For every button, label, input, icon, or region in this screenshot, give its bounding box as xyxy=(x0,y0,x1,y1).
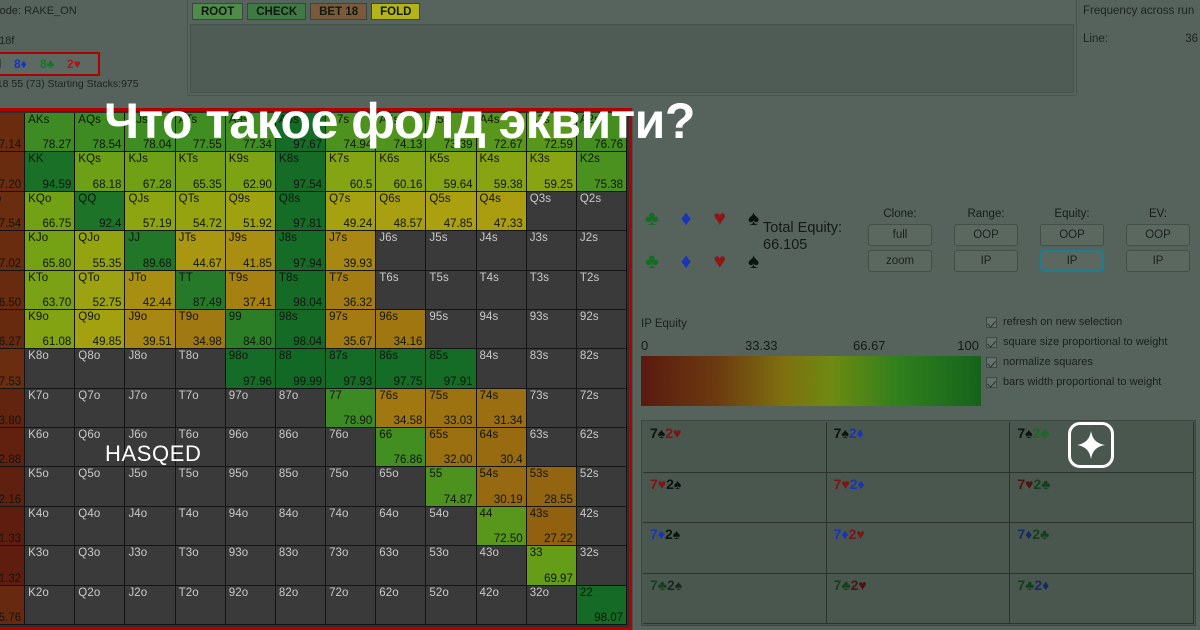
range-cell-value: 32.00 xyxy=(444,454,473,466)
range-cell-value: 87.49 xyxy=(193,297,222,309)
range-cell[interactable]: K7s60.5 xyxy=(326,152,376,191)
range-cell[interactable]: 94s xyxy=(477,310,527,349)
range-cell[interactable]: 73o xyxy=(326,546,376,585)
range-cell[interactable]: A3o1.32 xyxy=(0,546,25,585)
range-cell-hand: T9s xyxy=(229,272,248,284)
range-cell[interactable]: 62s xyxy=(577,428,627,467)
range-cell-hand: T3s xyxy=(530,272,549,284)
range-cell-hand: 52s xyxy=(580,468,599,480)
range-cell-hand: K8o xyxy=(28,350,49,362)
range-cell[interactable]: TT87.49 xyxy=(176,271,226,310)
heart-icon[interactable]: ♥ xyxy=(714,251,726,272)
range-cell[interactable]: Q4s47.33 xyxy=(477,192,527,231)
range-cell-value: 34.58 xyxy=(394,415,423,427)
range-cell[interactable]: Q9s51.92 xyxy=(226,192,276,231)
range-cell[interactable]: K5s59.64 xyxy=(426,152,476,191)
range-cell-hand: QQ xyxy=(78,193,96,205)
range-cell-hand: J3s xyxy=(530,232,548,244)
range-cell[interactable]: KK94.59 xyxy=(25,152,75,191)
range-cell[interactable]: T8s98.04 xyxy=(276,271,326,310)
range-cell[interactable]: 54o xyxy=(426,507,476,546)
range-cell[interactable]: 85o xyxy=(276,467,326,506)
range-cell[interactable]: AKo7.20 xyxy=(0,152,25,191)
range-cell-value: 44.67 xyxy=(193,258,222,270)
control-button-zoom[interactable]: zoom xyxy=(868,250,932,272)
range-cell-value: 97.75 xyxy=(394,376,423,388)
range-cell[interactable]: K3o xyxy=(25,546,75,585)
range-cell[interactable]: Q3o xyxy=(75,546,125,585)
range-cell[interactable]: Q8s97.81 xyxy=(276,192,326,231)
range-cell[interactable]: AQo7.54 xyxy=(0,192,25,231)
range-cell-hand: QTo xyxy=(78,272,99,284)
range-cell[interactable]: 64s30.4 xyxy=(477,428,527,467)
range-matrix[interactable]: AA7.14AKs78.27AQs78.54AJs78.04ATs77.55A9… xyxy=(0,113,627,625)
suit-filter-row-2[interactable]: ♣ ♦ ♥ ♠ xyxy=(645,251,759,272)
range-cell[interactable]: K8s97.54 xyxy=(276,152,326,191)
equity-gradient-bar xyxy=(641,356,981,406)
combo-grid[interactable]: 7♠2♥7♠2♦7♠2♣7♥2♠7♥2♦7♥2♣7♦2♠7♦2♥7♦2♣7♣2♠… xyxy=(643,422,1194,624)
range-cell[interactable]: 42s xyxy=(577,507,627,546)
range-cell[interactable]: K2o xyxy=(25,586,75,625)
range-cell-value: 59.25 xyxy=(544,179,573,191)
checkbox-icon[interactable] xyxy=(986,377,997,388)
range-cell[interactable]: 76s34.58 xyxy=(376,389,426,428)
range-cell-hand: TT xyxy=(179,272,193,284)
node-tree-panel: ROOT CHECK BET 18 FOLD xyxy=(187,0,1076,96)
range-cell[interactable]: 86o xyxy=(276,428,326,467)
range-cell[interactable]: QJo55.35 xyxy=(75,231,125,270)
range-cell-value: 65.80 xyxy=(43,258,72,270)
range-cell[interactable]: J5s xyxy=(426,231,476,270)
range-cell[interactable]: 85s97.91 xyxy=(426,349,476,388)
range-cell[interactable]: Q4o xyxy=(75,507,125,546)
range-cell[interactable]: J5o xyxy=(125,467,175,506)
range-cell[interactable]: 62o xyxy=(376,586,426,625)
range-cell[interactable]: 6676.86 xyxy=(376,428,426,467)
range-cell[interactable]: T5o xyxy=(176,467,226,506)
range-cell[interactable]: 32o xyxy=(527,586,577,625)
range-cell[interactable]: 95s xyxy=(426,310,476,349)
range-cell[interactable]: KTs65.35 xyxy=(176,152,226,191)
node-button-fold[interactable]: FOLD xyxy=(371,3,420,20)
range-cell[interactable]: Q7s49.24 xyxy=(326,192,376,231)
range-cell-hand: K7s xyxy=(329,153,349,165)
range-cell[interactable]: AJo7.02 xyxy=(0,231,25,270)
combo-cell[interactable]: 7♣2♦ xyxy=(1010,574,1194,625)
combo-label: 7♣2♦ xyxy=(1017,577,1049,593)
combo-cell[interactable]: 7♠2♦ xyxy=(827,422,1011,473)
range-cell[interactable]: 54s30.19 xyxy=(477,467,527,506)
range-cell-value: 6.27 xyxy=(0,336,21,348)
range-cell-hand: 44 xyxy=(480,508,493,520)
range-cell[interactable]: 92o xyxy=(226,586,276,625)
range-cell[interactable]: 83o xyxy=(276,546,326,585)
control-button-oop[interactable]: OOP xyxy=(954,224,1018,246)
range-cell[interactable]: A7o3.80 xyxy=(0,389,25,428)
range-cell[interactable]: QTs54.72 xyxy=(176,192,226,231)
range-cell-value: 47.85 xyxy=(444,218,473,230)
range-cell[interactable]: K6s60.16 xyxy=(376,152,426,191)
control-button-full[interactable]: full xyxy=(868,224,932,246)
range-cell[interactable]: J2o xyxy=(125,586,175,625)
range-cell[interactable]: 93s xyxy=(527,310,577,349)
range-cell[interactable]: 93o xyxy=(226,546,276,585)
range-cell-hand: 65o xyxy=(379,468,399,480)
range-cell-hand: Q4s xyxy=(480,193,501,205)
range-cell[interactable]: K3s59.25 xyxy=(527,152,577,191)
range-cell-hand: 93s xyxy=(530,311,549,323)
range-cell[interactable]: T8o xyxy=(176,349,226,388)
range-cell-hand: Q8o xyxy=(78,350,100,362)
combo-cell[interactable]: 7♥2♦ xyxy=(827,473,1011,524)
combo-cell[interactable]: 7♦2♣ xyxy=(1010,523,1194,574)
range-cell[interactable]: J7s39.93 xyxy=(326,231,376,270)
range-cell[interactable]: 43o xyxy=(477,546,527,585)
range-cell-hand: 98s xyxy=(279,311,298,323)
range-cell[interactable]: KJs67.28 xyxy=(125,152,175,191)
range-cell-hand: QJo xyxy=(78,232,99,244)
option-row[interactable]: square size proportional to weight xyxy=(986,336,1167,348)
combo-cell[interactable]: 7♥2♠ xyxy=(643,473,827,524)
range-cell[interactable]: 75s33.03 xyxy=(426,389,476,428)
control-button-oop[interactable]: OOP xyxy=(1040,224,1104,246)
range-cell[interactable]: 82s xyxy=(577,349,627,388)
range-cell-hand: 95s xyxy=(429,311,448,323)
range-cell[interactable]: 73s xyxy=(527,389,577,428)
range-cell[interactable]: J3s xyxy=(527,231,577,270)
range-cell[interactable]: 95o xyxy=(226,467,276,506)
range-cell[interactable]: AA7.14 xyxy=(0,113,25,152)
range-cell-hand: 22 xyxy=(580,587,593,599)
range-cell[interactable]: T9o34.98 xyxy=(176,310,226,349)
range-cell-hand: 82s xyxy=(580,350,599,362)
range-cell-hand: J7s xyxy=(329,232,347,244)
range-cell[interactable]: T3s xyxy=(527,271,577,310)
range-cell[interactable]: QQ92.4 xyxy=(75,192,125,231)
range-cell-hand: 52o xyxy=(429,587,449,599)
option-label: normalize squares xyxy=(1003,356,1093,368)
range-cell[interactable]: 32s xyxy=(577,546,627,585)
scale-tick-100: 100 xyxy=(957,338,979,353)
range-cell[interactable]: 86s97.75 xyxy=(376,349,426,388)
checkbox-icon[interactable] xyxy=(986,337,997,348)
heart-icon[interactable]: ♥ xyxy=(714,208,726,229)
total-equity-block: Total Equity: 66.105 xyxy=(763,220,842,254)
spade-icon[interactable]: ♠ xyxy=(748,208,759,229)
range-cell-value: 97.91 xyxy=(444,376,473,388)
control-column-range: Range:OOPIP xyxy=(954,208,1018,276)
range-cell[interactable]: K5o xyxy=(25,467,75,506)
combo-cell[interactable]: 7♠2♣ xyxy=(1010,422,1194,473)
range-cell[interactable]: T4s xyxy=(477,271,527,310)
range-cell[interactable]: 87o xyxy=(276,389,326,428)
range-cell[interactable]: K7o xyxy=(25,389,75,428)
display-options: refresh on new selectionsquare size prop… xyxy=(986,316,1167,396)
suit-filter-rows[interactable]: ♣ ♦ ♥ ♠ ♣ ♦ ♥ ♠ xyxy=(645,208,759,294)
range-cell-value: 69.97 xyxy=(544,573,573,585)
range-cell-hand: 53o xyxy=(429,547,449,559)
range-cell[interactable]: 72s xyxy=(577,389,627,428)
board-cards-box[interactable]: d 8♦ 8♣ 2♥ xyxy=(0,52,100,76)
range-cell-value: 27.22 xyxy=(544,533,573,545)
range-cell[interactable]: 82o xyxy=(276,586,326,625)
range-cell-hand: 74s xyxy=(480,390,499,402)
range-cell[interactable]: J7o xyxy=(125,389,175,428)
range-cell[interactable]: 2298.07 xyxy=(577,586,627,625)
range-cell[interactable]: J3o xyxy=(125,546,175,585)
range-cell-hand: AQs xyxy=(78,114,101,126)
combo-grid-container[interactable]: 7♠2♥7♠2♦7♠2♣7♥2♠7♥2♦7♥2♣7♦2♠7♦2♥7♦2♣7♣2♠… xyxy=(641,420,1196,626)
range-cell[interactable]: JTo42.44 xyxy=(125,271,175,310)
range-cell-hand: 75o xyxy=(329,468,349,480)
range-cell[interactable]: K2s75.38 xyxy=(577,152,627,191)
range-cell-value: 33.03 xyxy=(444,415,473,427)
control-button-ip[interactable]: IP xyxy=(954,250,1018,272)
range-cell[interactable]: J9s41.85 xyxy=(226,231,276,270)
range-cell-value: 49.85 xyxy=(93,336,122,348)
range-cell[interactable]: K8o xyxy=(25,349,75,388)
range-cell-hand: 32o xyxy=(530,587,550,599)
node-tree-canvas[interactable] xyxy=(190,24,1074,93)
range-cell-hand: J5o xyxy=(128,468,147,480)
range-cell[interactable]: 94o xyxy=(226,507,276,546)
range-cell-value: 35.67 xyxy=(343,336,372,348)
range-cell-hand: 63o xyxy=(379,547,399,559)
range-cell[interactable]: A4o1.33 xyxy=(0,507,25,546)
range-cell-hand: Q5s xyxy=(429,193,450,205)
range-cell-value: 89.68 xyxy=(143,258,172,270)
range-cell-hand: J7o xyxy=(128,390,147,402)
club-icon[interactable]: ♣ xyxy=(645,251,659,272)
range-cell-hand: JTs xyxy=(179,232,197,244)
range-cell[interactable]: A8o7.53 xyxy=(0,349,25,388)
range-cell[interactable]: 96s34.16 xyxy=(376,310,426,349)
combo-cell[interactable]: 7♦2♥ xyxy=(827,523,1011,574)
range-cell[interactable]: A9o6.27 xyxy=(0,310,25,349)
range-cell[interactable]: JJ89.68 xyxy=(125,231,175,270)
combo-cell[interactable]: 7♣2♠ xyxy=(643,574,827,625)
control-button-ip[interactable]: IP xyxy=(1126,250,1190,272)
range-cell-value: 94.59 xyxy=(43,179,72,191)
diamond-icon[interactable]: ♦ xyxy=(681,208,692,229)
range-cell[interactable]: 64o xyxy=(376,507,426,546)
range-cell[interactable]: 43s27.22 xyxy=(527,507,577,546)
frequency-title: Frequency across run xyxy=(1083,5,1194,17)
range-cell-value: 62.90 xyxy=(243,179,272,191)
range-cell[interactable]: Q8o xyxy=(75,349,125,388)
combo-cell[interactable]: 7♥2♣ xyxy=(1010,473,1194,524)
range-cell[interactable]: 97o xyxy=(226,389,276,428)
range-matrix-container[interactable]: AA7.14AKs78.27AQs78.54AJs78.04ATs77.55A9… xyxy=(0,108,632,630)
range-cell[interactable]: J6s xyxy=(376,231,426,270)
control-column-equity: Equity:OOPIP xyxy=(1040,208,1104,276)
range-cell[interactable]: 97s35.67 xyxy=(326,310,376,349)
club-icon[interactable]: ♣ xyxy=(645,208,659,229)
range-cell[interactable]: 84o xyxy=(276,507,326,546)
range-cell[interactable]: 83s xyxy=(527,349,577,388)
control-button-ip[interactable]: IP xyxy=(1040,250,1104,272)
sparkle-icon[interactable] xyxy=(1068,422,1114,468)
range-cell[interactable]: Q5o xyxy=(75,467,125,506)
range-cell[interactable]: A2o5.76 xyxy=(0,586,25,625)
range-cell[interactable]: A5o2.16 xyxy=(0,467,25,506)
range-cell-hand: Q6s xyxy=(379,193,400,205)
range-cell[interactable]: 9984.80 xyxy=(226,310,276,349)
range-cell-hand: K6o xyxy=(28,429,49,441)
range-cell-value: 97.93 xyxy=(343,376,372,388)
range-cell[interactable]: K9s62.90 xyxy=(226,152,276,191)
range-cell-value: 7.14 xyxy=(0,139,21,151)
combo-cell[interactable]: 7♣2♥ xyxy=(827,574,1011,625)
range-cell[interactable]: K4o xyxy=(25,507,75,546)
range-cell[interactable]: T6s xyxy=(376,271,426,310)
range-cell[interactable]: 4472.50 xyxy=(477,507,527,546)
range-cell[interactable]: J9o39.51 xyxy=(125,310,175,349)
node-button-bet[interactable]: BET 18 xyxy=(310,3,367,20)
range-cell[interactable]: J8o xyxy=(125,349,175,388)
range-cell[interactable]: T2s xyxy=(577,271,627,310)
range-cell[interactable]: T7o xyxy=(176,389,226,428)
combo-label: 7♦2♣ xyxy=(1017,526,1049,542)
range-cell[interactable]: Q2s xyxy=(577,192,627,231)
range-cell[interactable]: 65o xyxy=(376,467,426,506)
suit-filter-row-1[interactable]: ♣ ♦ ♥ ♠ xyxy=(645,208,759,229)
range-cell[interactable]: J4s xyxy=(477,231,527,270)
range-cell-hand: K3o xyxy=(28,547,49,559)
range-cell[interactable]: 76o xyxy=(326,428,376,467)
range-cell[interactable]: Q6s48.57 xyxy=(376,192,426,231)
option-row[interactable]: refresh on new selection xyxy=(986,316,1167,328)
range-cell[interactable]: J8s97.94 xyxy=(276,231,326,270)
range-cell[interactable]: J2s xyxy=(577,231,627,270)
checkbox-icon[interactable] xyxy=(986,357,997,368)
combo-label: 7♥2♣ xyxy=(1017,476,1050,492)
checkbox-icon[interactable] xyxy=(986,317,997,328)
frequency-panel: Frequency across run Line: 36 xyxy=(1076,0,1200,95)
range-cell[interactable]: 52s xyxy=(577,467,627,506)
range-cell[interactable]: KQs68.18 xyxy=(75,152,125,191)
range-cell[interactable]: K6o xyxy=(25,428,75,467)
range-cell[interactable]: Q5s47.85 xyxy=(426,192,476,231)
range-cell[interactable]: 8899.99 xyxy=(276,349,326,388)
range-cell-hand: 98o xyxy=(229,350,249,362)
range-cell[interactable]: 92s xyxy=(577,310,627,349)
range-cell[interactable]: Q2o xyxy=(75,586,125,625)
control-column-label: Equity: xyxy=(1040,208,1104,220)
range-cell[interactable]: 63o xyxy=(376,546,426,585)
range-cell-hand: 62s xyxy=(580,429,599,441)
range-cell[interactable]: T4o xyxy=(176,507,226,546)
node-button-root[interactable]: ROOT xyxy=(192,3,243,20)
range-cell[interactable]: 7778.90 xyxy=(326,389,376,428)
range-cell[interactable]: JTs44.67 xyxy=(176,231,226,270)
spade-icon[interactable]: ♠ xyxy=(748,251,759,272)
combo-label: 7♥2♠ xyxy=(650,476,681,492)
range-cell-hand: Q5o xyxy=(78,468,100,480)
range-cell-value: 99.99 xyxy=(293,376,322,388)
range-cell[interactable]: T9s37.41 xyxy=(226,271,276,310)
range-cell[interactable]: 72o xyxy=(326,586,376,625)
range-cell[interactable]: Q7o xyxy=(75,389,125,428)
option-row[interactable]: normalize squares xyxy=(986,356,1167,368)
range-cell-hand: K9o xyxy=(28,311,49,323)
scale-tick-66: 66.67 xyxy=(853,338,886,353)
range-cell-hand: 84s xyxy=(480,350,499,362)
frequency-line-label: Line: xyxy=(1083,33,1108,45)
range-cell-hand: T4o xyxy=(179,508,199,520)
range-cell-hand: K6s xyxy=(379,153,399,165)
range-cell-value: 98.04 xyxy=(293,297,322,309)
range-cell[interactable]: J4o xyxy=(125,507,175,546)
range-cell-hand: J8s xyxy=(279,232,297,244)
option-label: square size proportional to weight xyxy=(1003,336,1167,348)
range-cell[interactable]: 96o xyxy=(226,428,276,467)
range-cell[interactable]: 65s32.00 xyxy=(426,428,476,467)
combo-cell[interactable]: 7♠2♥ xyxy=(643,422,827,473)
range-cell-hand: 84o xyxy=(279,508,299,520)
range-cell[interactable]: 53s28.55 xyxy=(527,467,577,506)
range-cell[interactable]: 63s xyxy=(527,428,577,467)
control-column-clone: Clone:fullzoom xyxy=(868,208,932,276)
control-button-oop[interactable]: OOP xyxy=(1126,224,1190,246)
node-button-check[interactable]: CHECK xyxy=(247,3,306,20)
range-cell[interactable]: T3o xyxy=(176,546,226,585)
range-cell-value: 48.57 xyxy=(394,218,423,230)
range-cell[interactable]: 84s xyxy=(477,349,527,388)
range-cell[interactable]: ATo6.50 xyxy=(0,271,25,310)
range-cell[interactable]: T7s36.32 xyxy=(326,271,376,310)
range-cell-hand: 83s xyxy=(530,350,549,362)
range-cell[interactable]: Q3s xyxy=(527,192,577,231)
range-cell[interactable]: AKs78.27 xyxy=(25,113,75,152)
range-cell-hand: 76o xyxy=(329,429,349,441)
range-cell[interactable]: QTo52.75 xyxy=(75,271,125,310)
range-cell-hand: KQs xyxy=(78,153,101,165)
range-cell[interactable]: T5s xyxy=(426,271,476,310)
range-cell-hand: 64o xyxy=(379,508,399,520)
range-cell-hand: 75s xyxy=(429,390,448,402)
range-cell[interactable]: KJo65.80 xyxy=(25,231,75,270)
range-cell[interactable]: 42o xyxy=(477,586,527,625)
range-cell[interactable]: QJs57.19 xyxy=(125,192,175,231)
range-cell[interactable]: 98o97.96 xyxy=(226,349,276,388)
range-cell-hand: T3o xyxy=(179,547,199,559)
range-cell[interactable]: KTo63.70 xyxy=(25,271,75,310)
diamond-icon[interactable]: ♦ xyxy=(681,251,692,272)
range-cell-hand: KK xyxy=(28,153,44,165)
range-cell[interactable]: 98s98.04 xyxy=(276,310,326,349)
range-cell[interactable]: K4s59.38 xyxy=(477,152,527,191)
range-cell[interactable]: 74o xyxy=(326,507,376,546)
range-cell[interactable]: 75o xyxy=(326,467,376,506)
range-cell[interactable]: 5574.87 xyxy=(426,467,476,506)
range-cell[interactable]: 3369.97 xyxy=(527,546,577,585)
range-cell[interactable]: 87s97.93 xyxy=(326,349,376,388)
range-cell[interactable]: K9o61.08 xyxy=(25,310,75,349)
range-cell-value: 52.75 xyxy=(93,297,122,309)
range-cell[interactable]: 52o xyxy=(426,586,476,625)
range-cell[interactable]: T2o xyxy=(176,586,226,625)
combo-cell[interactable]: 7♦2♠ xyxy=(643,523,827,574)
range-cell[interactable]: 53o xyxy=(426,546,476,585)
scale-tick-33: 33.33 xyxy=(745,338,778,353)
equity-scale-label: IP Equity xyxy=(641,318,981,330)
range-cell[interactable]: A6o2.88 xyxy=(0,428,25,467)
range-cell[interactable]: 74s31.34 xyxy=(477,389,527,428)
range-cell[interactable]: Q9o49.85 xyxy=(75,310,125,349)
range-cell[interactable]: KQo66.75 xyxy=(25,192,75,231)
option-row[interactable]: bars width proportional to weight xyxy=(986,376,1167,388)
